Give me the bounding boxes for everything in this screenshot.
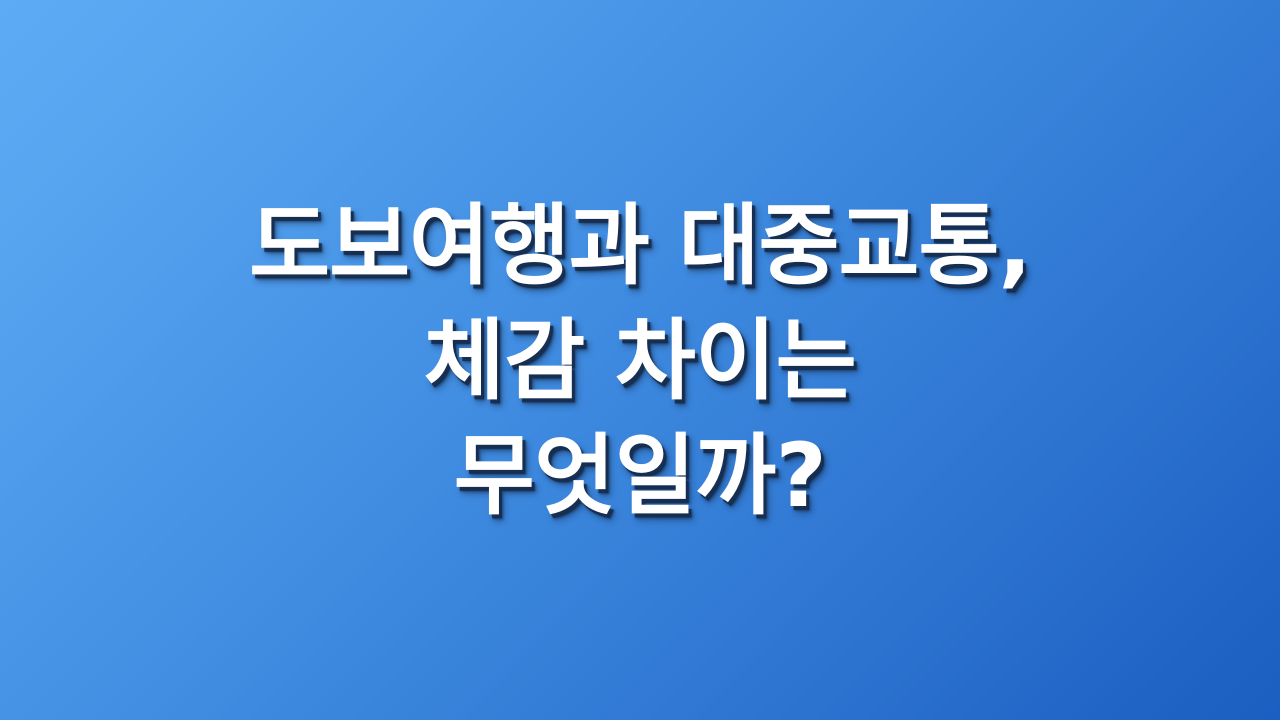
headline-line-3: 무엇일까? [24, 418, 1256, 533]
headline-line-1: 도보여행과 대중교통, [24, 188, 1256, 303]
headline-line-2: 체감 차이는 [24, 303, 1256, 418]
title-slide: 도보여행과 대중교통, 체감 차이는 무엇일까? [0, 0, 1280, 720]
headline-text: 도보여행과 대중교통, 체감 차이는 무엇일까? [0, 188, 1280, 533]
